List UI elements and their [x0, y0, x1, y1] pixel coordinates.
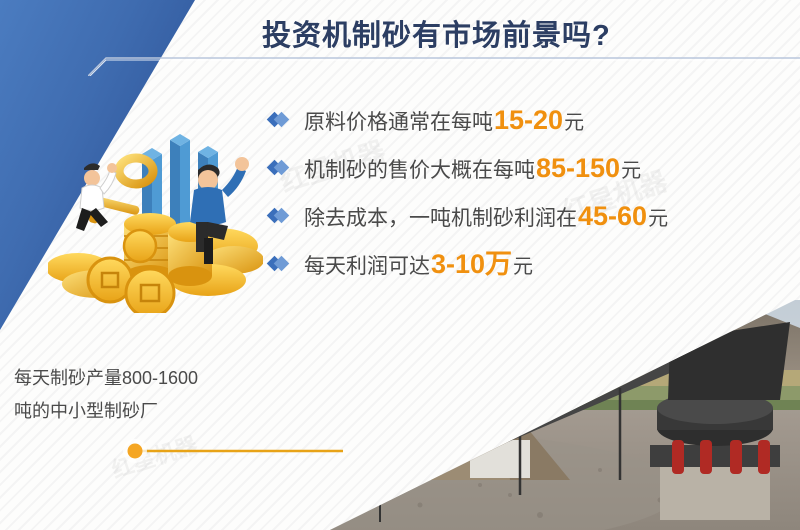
cone-crusher [650, 322, 790, 520]
caption-line-1: 每天制砂产量800-1600 [14, 362, 274, 395]
bullet-list: 原料价格通常在每吨15-20元 机制砂的售价大概在每吨85-150元 除去成本，… [268, 96, 788, 288]
bullet-lead: 机制砂的售价大概在每吨 [304, 160, 535, 181]
bullet-highlight: 3-10万 [430, 251, 513, 278]
diamond-bullet-icon [268, 156, 292, 180]
diamond-bullet-icon [268, 204, 292, 228]
bullet-highlight: 85-150 [535, 155, 621, 182]
orange-dot-connector [118, 438, 348, 464]
gold-coins-investor-illustration [48, 128, 263, 313]
businessman-running-icon [76, 163, 117, 231]
caption-line-2: 吨的中小型制砂厂 [14, 395, 274, 428]
list-item: 除去成本，一吨机制砂利润在45-60元 [268, 192, 788, 240]
bullet-tail: 元 [648, 209, 668, 229]
title-separator-line [88, 56, 800, 76]
poster-root: 投资机制砂有市场前景吗? 红星机器 红星机器 红星机器 原料价格通常在每吨15-… [0, 0, 800, 530]
list-item: 每天利润可达3-10万元 [268, 240, 788, 288]
bullet-tail: 元 [564, 113, 584, 133]
bullet-tail: 元 [621, 161, 641, 181]
bullet-lead: 除去成本，一吨机制砂利润在 [304, 208, 577, 229]
bullet-highlight: 15-20 [493, 107, 564, 134]
diamond-bullet-icon [268, 108, 292, 132]
list-item: 原料价格通常在每吨15-20元 [268, 96, 788, 144]
bullet-lead: 原料价格通常在每吨 [304, 112, 493, 133]
photo-caption: 每天制砂产量800-1600 吨的中小型制砂厂 [14, 362, 274, 429]
bullet-text: 原料价格通常在每吨15-20元 [304, 107, 584, 134]
bullet-lead: 每天利润可达 [304, 256, 430, 277]
bullet-text: 每天利润可达3-10万元 [304, 251, 533, 278]
bullet-tail: 元 [513, 257, 533, 277]
list-item: 机制砂的售价大概在每吨85-150元 [268, 144, 788, 192]
bullet-highlight: 45-60 [577, 203, 648, 230]
bullet-text: 除去成本，一吨机制砂利润在45-60元 [304, 203, 668, 230]
bullet-text: 机制砂的售价大概在每吨85-150元 [304, 155, 641, 182]
diamond-bullet-icon [268, 252, 292, 276]
page-title: 投资机制砂有市场前景吗? [262, 12, 782, 54]
